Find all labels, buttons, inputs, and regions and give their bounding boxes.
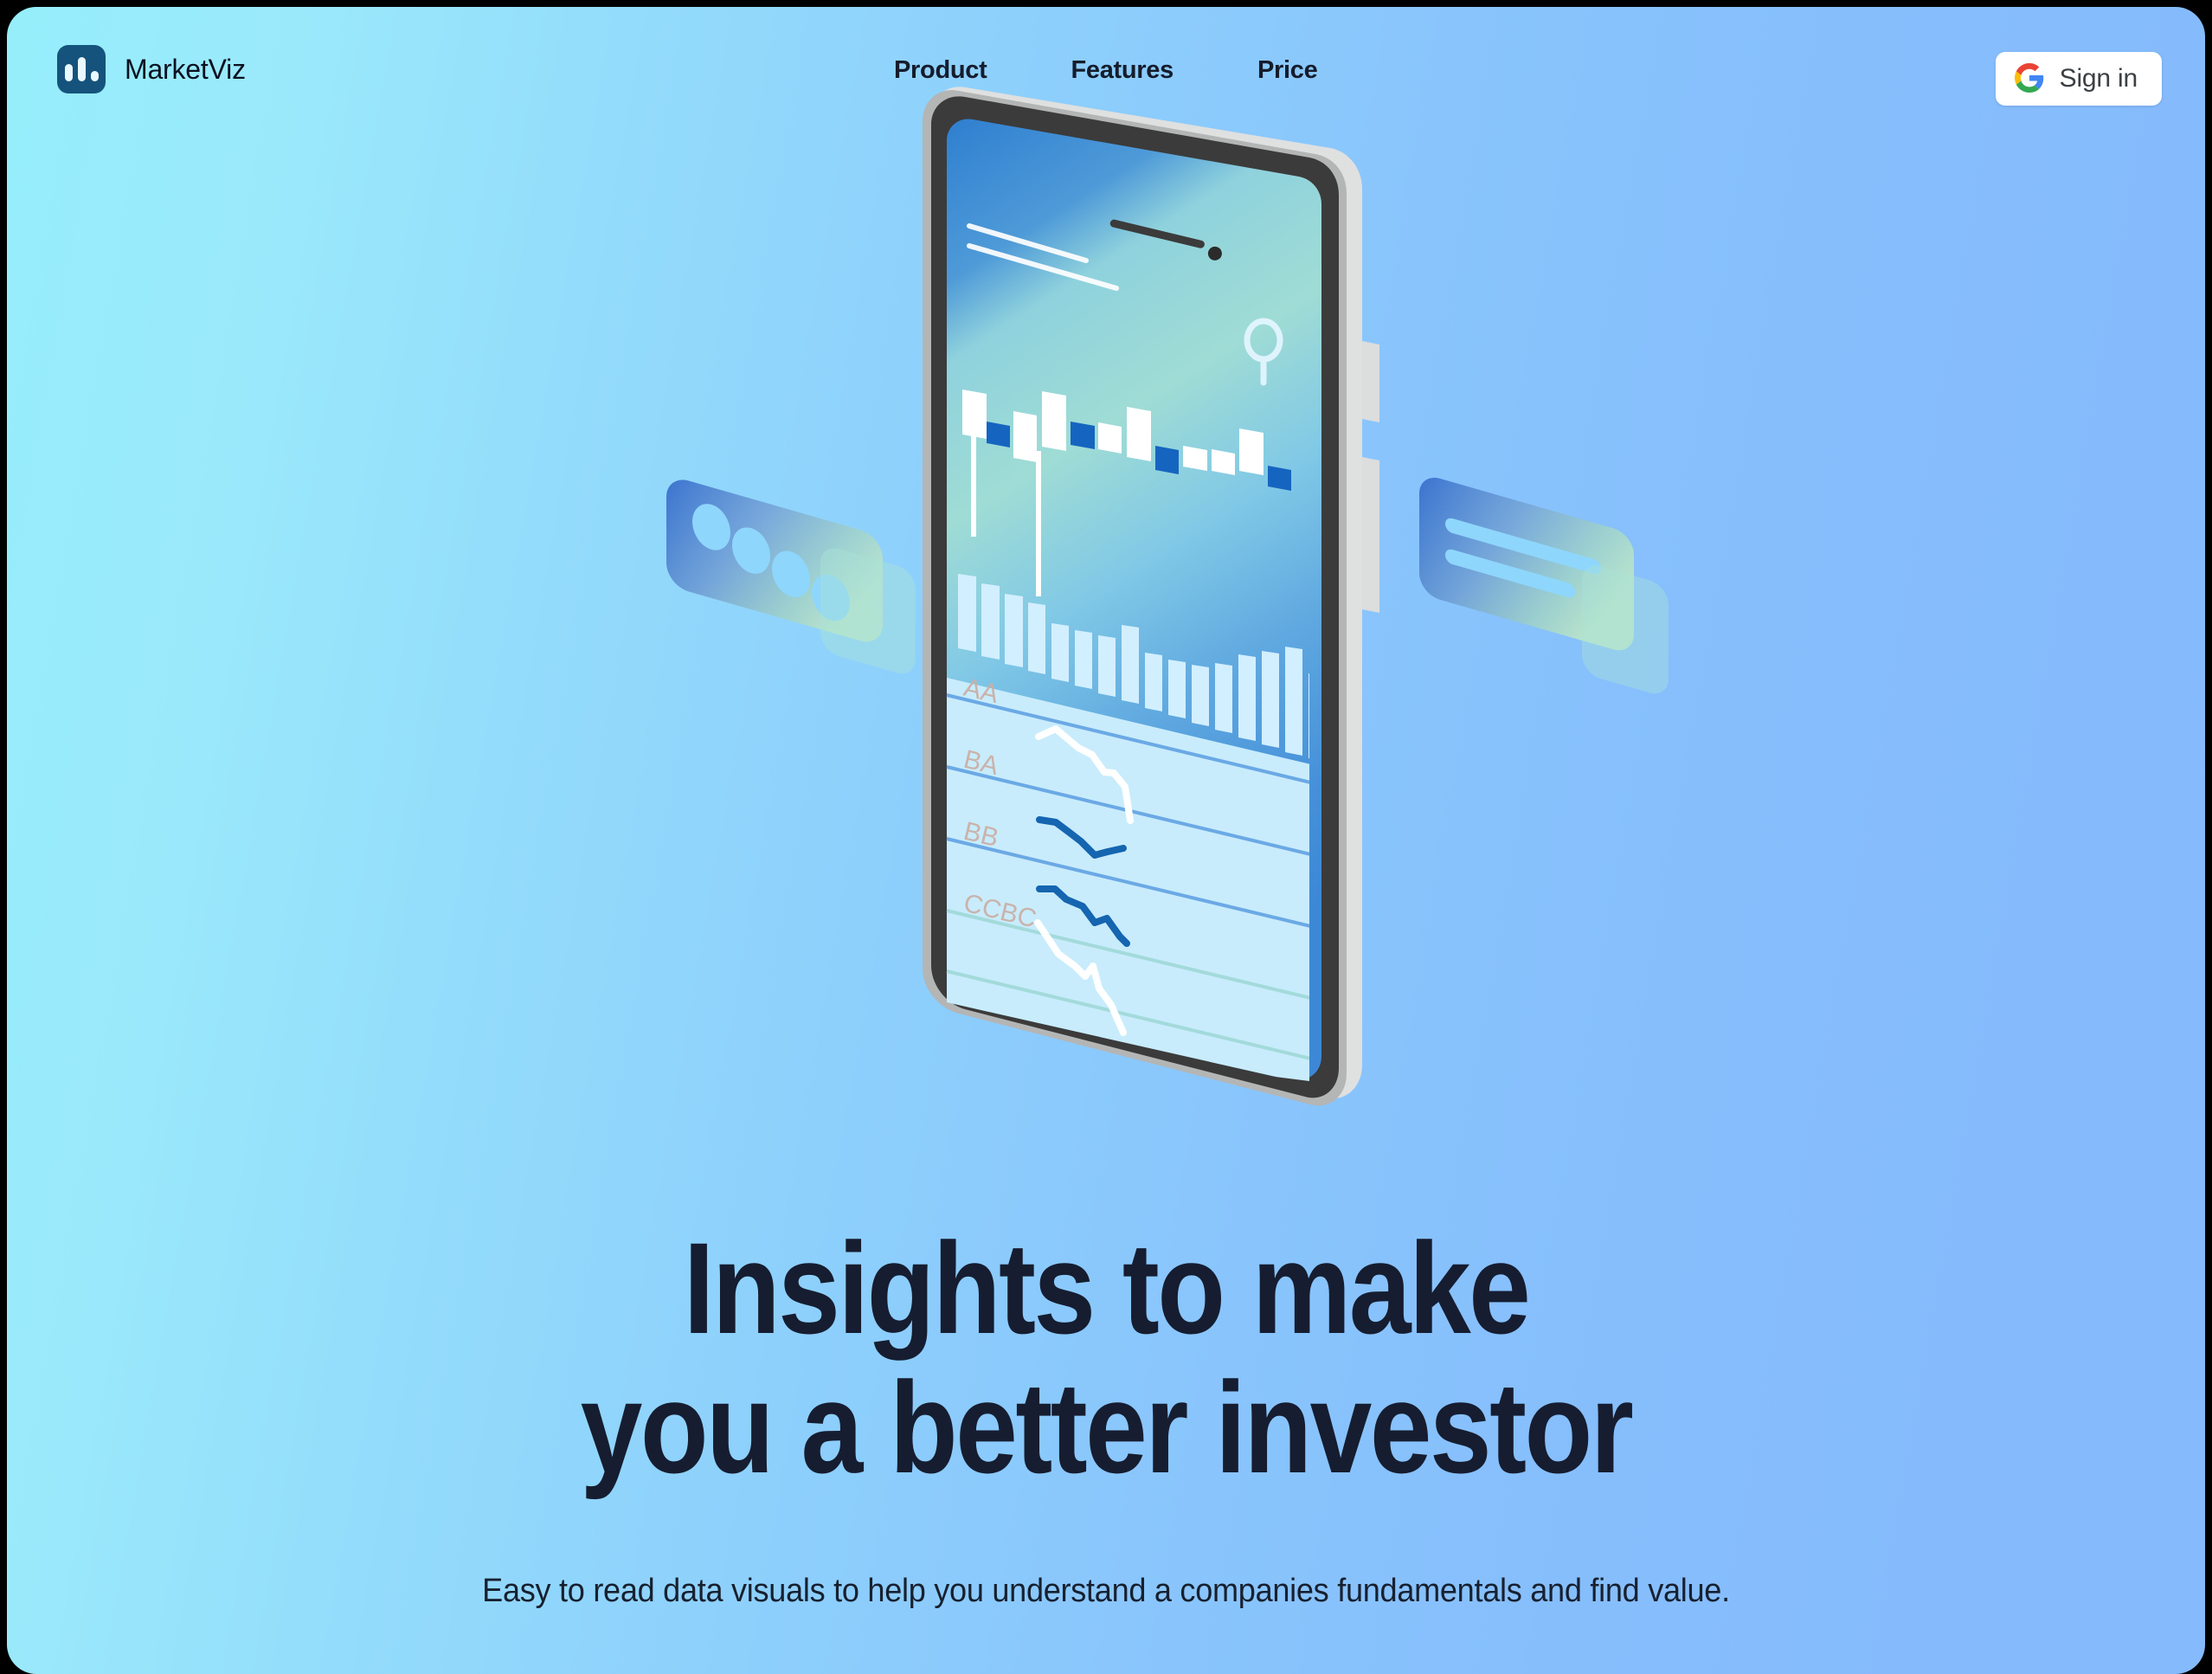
phone-earpiece xyxy=(1108,219,1225,262)
watchlist-ticker-ccbc: CCBC xyxy=(961,889,1038,934)
phone-side-button xyxy=(1362,341,1379,422)
sign-in-label: Sign in xyxy=(2060,64,2138,93)
watchlist-ticker-ba: BA xyxy=(961,745,1001,781)
headline-line-1: Insights to make xyxy=(684,1215,1529,1361)
page-title: Insights to make you a better investor xyxy=(161,1219,2051,1497)
watchlist-ticker-aa: AA xyxy=(961,673,1001,709)
nav-link-features[interactable]: Features xyxy=(1071,56,1174,85)
nav-link-product[interactable]: Product xyxy=(894,56,987,85)
site-header: MarketViz Product Features Price Sign in xyxy=(7,7,2205,137)
main-nav: Product Features Price xyxy=(894,56,1317,85)
watchlist-panel: AA BA BB CCBC xyxy=(947,673,1321,1089)
browser-window: MarketViz Product Features Price Sign in xyxy=(7,7,2205,1674)
bar-chart-icon xyxy=(57,45,106,93)
volume-bar-chart xyxy=(958,574,1321,762)
watchlist-ticker-bb: BB xyxy=(961,817,1001,853)
sparkline-aa xyxy=(1038,729,1130,821)
screen-header-lines xyxy=(969,226,1116,288)
phone-screen xyxy=(947,119,1321,1079)
brand-name: MarketViz xyxy=(125,54,246,86)
phone-power-button xyxy=(1362,457,1379,613)
phone-rim xyxy=(923,90,1347,1105)
nav-link-price[interactable]: Price xyxy=(1257,56,1317,85)
phone-body xyxy=(930,87,1362,1098)
hero-copy: Insights to make you a better investor E… xyxy=(7,1219,2205,1619)
candlestick-chart xyxy=(962,390,1291,596)
phone-bezel xyxy=(931,96,1339,1098)
google-g-icon xyxy=(2015,63,2044,95)
headline-line-2: you a better investor xyxy=(581,1355,1632,1500)
sparkline-bb xyxy=(1039,889,1127,943)
search-icon xyxy=(1247,321,1280,383)
lines-card xyxy=(1419,473,1634,655)
sparkline-ba xyxy=(1039,820,1123,855)
hero-subtext: Easy to read data visuals to help you un… xyxy=(62,1564,2151,1619)
dots-card xyxy=(666,474,883,647)
hero-illustration: AA BA BB CCBC xyxy=(7,7,2205,1219)
google-sign-in-button[interactable]: Sign in xyxy=(1996,52,2162,106)
sparkline-ccbc xyxy=(1038,923,1123,1033)
brand-logo[interactable]: MarketViz xyxy=(57,45,246,93)
